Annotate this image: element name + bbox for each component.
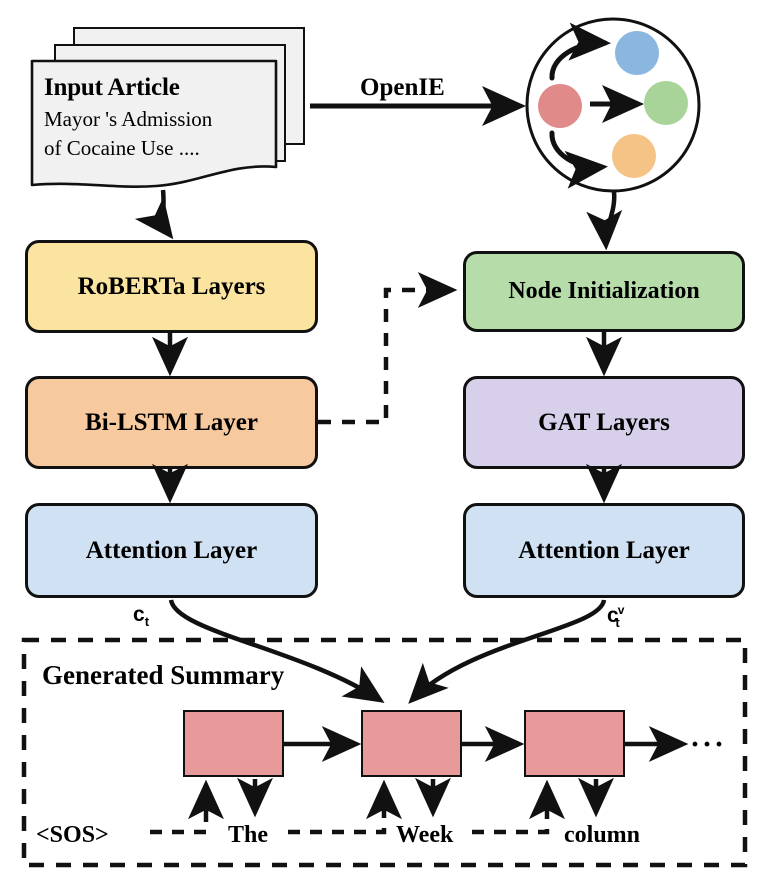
dashed-arrow-sos-to-decoder-cell-1 (150, 785, 206, 832)
graph-node-source (538, 84, 582, 128)
dashed-arrow-the-to-decoder-cell-2 (288, 785, 384, 832)
dashed-arrow-week-to-decoder-cell-3 (472, 785, 547, 832)
connector-layer (0, 0, 763, 877)
graph-node-object-bottom (612, 134, 656, 178)
arrow-context-graph-to-decoder (412, 600, 604, 700)
graph-node-object-right (644, 81, 688, 125)
diagram-canvas: Input Article Mayor 's Admission of Coca… (0, 0, 763, 877)
dashed-link-bilstm-to-node-initialization (318, 290, 452, 422)
arrow-graph-to-node-initialization (606, 192, 614, 245)
arrow-context-text-to-decoder (171, 600, 380, 700)
graph-node-object-top (615, 31, 659, 75)
arrow-article-to-roberta (163, 190, 170, 235)
